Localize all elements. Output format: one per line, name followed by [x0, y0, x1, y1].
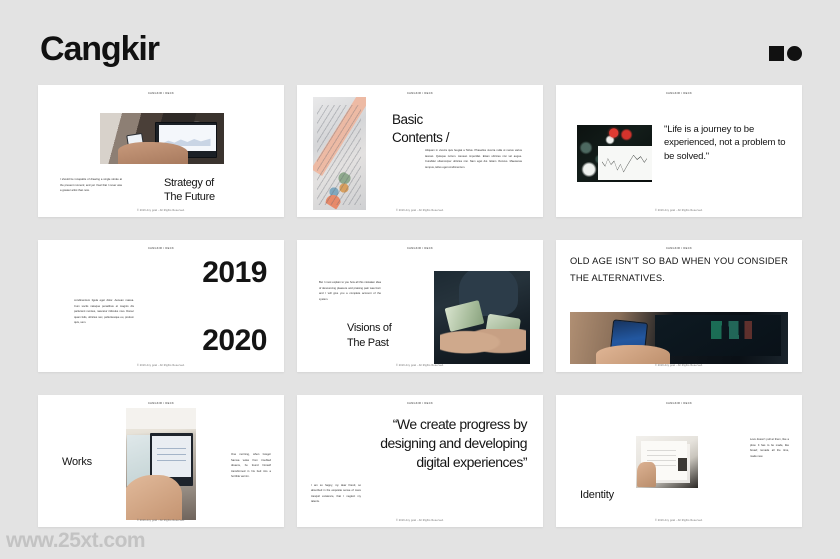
hand-shape — [637, 462, 656, 487]
slide-card-visions-of-the-past[interactable]: CANGKIR / DECK But I must explain to you… — [297, 240, 543, 372]
slide-footer: © 2019 Any goal - All Rights Reserved. — [38, 519, 284, 522]
page-header: Cangkir — [0, 0, 840, 85]
slide-tag: CANGKIR / DECK — [556, 402, 802, 405]
slide-card-old-age[interactable]: CANGKIR / DECK OLD AGE ISN'T SO BAD WHEN… — [556, 240, 802, 372]
slide-card-we-create-progress[interactable]: CANGKIR / DECK “We create progress by de… — [297, 395, 543, 527]
slide-quote: OLD AGE ISN'T SO BAD WHEN YOU CONSIDER T… — [570, 253, 788, 287]
slide-image-counting-money — [434, 271, 530, 364]
year-first: 2019 — [202, 256, 267, 290]
slide-paragraph: Love doesn't pull at them, like a plow. … — [750, 437, 789, 459]
slide-footer: © 2019 Any goal - All Rights Reserved. — [297, 209, 543, 212]
slide-image-layouts-on-desk — [636, 436, 698, 488]
slide-card-identity[interactable]: CANGKIR / DECK Love doesn't pull at them… — [556, 395, 802, 527]
arm-shape — [126, 475, 182, 520]
slide-paragraph: Aliquam in viverra quis feugiat a Tellus… — [425, 148, 522, 170]
hand-shape — [596, 345, 670, 364]
slide-image-typing-laptop — [126, 408, 196, 520]
slide-image-phone-laptop — [570, 312, 788, 364]
slide-tag: CANGKIR / DECK — [38, 402, 284, 405]
slide-paragraph: I should be incapable of drawing a singl… — [60, 177, 122, 194]
slide-paragraph: condimentum ligula eget dolor. Aenean ma… — [74, 298, 134, 326]
slide-footer: © 2019 Any goal - All Rights Reserved. — [556, 209, 802, 212]
circle-icon — [787, 46, 802, 61]
slide-image-documents — [313, 97, 366, 210]
slide-title: Visions of The Past — [347, 321, 392, 350]
slide-image-laptop-phone — [100, 113, 224, 164]
slide-footer: © 2019 Any goal - All Rights Reserved. — [556, 519, 802, 522]
slide-tag: CANGKIR / DECK — [297, 92, 543, 95]
page-title: Cangkir — [40, 30, 159, 69]
photo-print — [678, 458, 687, 472]
slide-tag: CANGKIR / DECK — [38, 247, 284, 250]
watermark: www.25xt.com — [6, 529, 145, 553]
brand-marks — [769, 46, 802, 61]
hands-shape — [440, 329, 526, 362]
slide-footer: © 2019 Any goal - All Rights Reserved. — [38, 364, 284, 367]
slide-title: Works — [62, 456, 92, 468]
slide-tag: CANGKIR / DECK — [556, 92, 802, 95]
year-second: 2020 — [202, 324, 267, 358]
slide-tag: CANGKIR / DECK — [556, 247, 802, 250]
slide-footer: © 2019 Any goal - All Rights Reserved. — [297, 364, 543, 367]
slide-title: Identity — [580, 489, 614, 501]
slide-card-works[interactable]: CANGKIR / DECK Works One morning, when G… — [38, 395, 284, 527]
inset-chart-panel — [598, 146, 652, 180]
slide-tag: CANGKIR / DECK — [297, 247, 543, 250]
window-blinds — [126, 408, 196, 429]
slide-tag: CANGKIR / DECK — [38, 92, 284, 95]
slide-image-bokeh-chart — [577, 125, 652, 182]
slide-quote: “We create progress by designing and dev… — [367, 415, 527, 472]
slide-card-basic-contents[interactable]: CANGKIR / DECK Basic Contents / Aliquam … — [297, 85, 543, 217]
hand-shape — [118, 142, 188, 164]
slide-paragraph: One morning, when Gregor Samsa woke from… — [231, 452, 271, 480]
slide-card-strategy-of-the-future[interactable]: CANGKIR / DECK I should be incapable of … — [38, 85, 284, 217]
slide-footer: © 2019 Any goal - All Rights Reserved. — [297, 519, 543, 522]
slide-paragraph: But I must explain to you how all this m… — [319, 280, 381, 302]
slide-card-years[interactable]: CANGKIR / DECK 2019 condimentum ligula e… — [38, 240, 284, 372]
slide-paragraph: I am so happy, my dear friend, so absorb… — [311, 483, 361, 505]
slide-footer: © 2019 Any goal - All Rights Reserved. — [38, 209, 284, 212]
document-marks — [323, 170, 356, 209]
screen-text-lines — [157, 446, 186, 462]
laptop-screen — [152, 436, 190, 477]
slide-card-life-is-a-journey[interactable]: CANGKIR / DECK "Life is a journey to be … — [556, 85, 802, 217]
square-icon — [769, 46, 784, 61]
slide-footer: © 2019 Any goal - All Rights Reserved. — [556, 364, 802, 367]
slide-deck-grid: CANGKIR / DECK I should be incapable of … — [38, 85, 803, 527]
slide-tag: CANGKIR / DECK — [297, 402, 543, 405]
laptop-chart — [711, 321, 772, 339]
slide-title: Strategy of The Future — [164, 176, 260, 204]
slide-quote: "Life is a journey to be experienced, no… — [664, 123, 786, 163]
line-chart-shape — [602, 151, 647, 175]
slide-title: Basic Contents / — [392, 111, 449, 147]
laptop-shape — [655, 315, 781, 356]
